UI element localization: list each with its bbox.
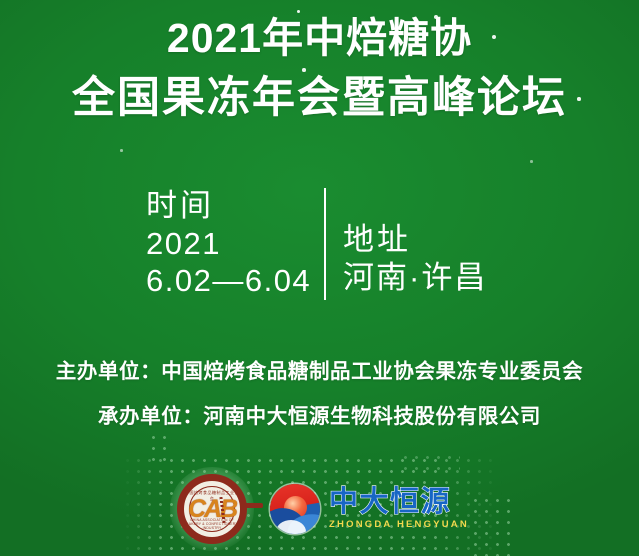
sun-over-waves-icon <box>270 484 320 534</box>
halftone-dot-pattern-small <box>148 432 172 462</box>
time-label: 时间 <box>146 188 322 225</box>
cab-arc-text-english: CHINA ASSOCIATION OF BAKERY & CONFECTION… <box>184 518 240 530</box>
time-year: 2021 <box>146 225 322 262</box>
time-block: 时间 2021 6.02—6.04 <box>146 186 322 299</box>
time-dates: 6.02—6.04 <box>146 262 322 299</box>
brand-wordmark: 中大恒源 ZHONGDA HENGYUAN <box>329 488 469 530</box>
info-divider <box>324 188 326 300</box>
zhongda-hengyuan-logo: 中大恒源 ZHONGDA HENGYUAN <box>270 484 469 534</box>
host-organization-line: 主办单位：中国焙烤食品糖制品工业协会果冻专业委员会 <box>0 362 639 383</box>
cab-seal-logo: 中国焙烤食品糖制品工业协会 CAB CHINA ASSOCIATION OF B… <box>170 467 254 551</box>
logo-row: 中国焙烤食品糖制品工业协会 CAB CHINA ASSOCIATION OF B… <box>0 466 639 552</box>
brand-name-pinyin: ZHONGDA HENGYUAN <box>329 520 469 530</box>
brand-name-chinese: 中大恒源 <box>329 488 469 517</box>
organizer-block: 主办单位：中国焙烤食品糖制品工业协会果冻专业委员会 承办单位：河南中大恒源生物科… <box>0 362 639 427</box>
cab-seal-ring: 中国焙烤食品糖制品工业协会 CAB CHINA ASSOCIATION OF B… <box>177 474 247 544</box>
address-value: 河南·许昌 <box>343 259 523 296</box>
sparkle-dot <box>530 160 533 163</box>
headline-line-1: 2021年中焙糖协 <box>0 18 639 59</box>
event-info-band: 时间 2021 6.02—6.04 地址 河南·许昌 <box>146 186 526 304</box>
event-poster: 2021年中焙糖协 全国果冻年会暨高峰论坛 时间 2021 6.02—6.04 … <box>0 0 639 556</box>
cab-side-bar-icon <box>243 503 263 508</box>
address-block: 地址 河南·许昌 <box>322 186 523 296</box>
sparkle-dot <box>297 10 300 13</box>
poster-headline: 2021年中焙糖协 全国果冻年会暨高峰论坛 <box>0 18 639 120</box>
sparkle-dot <box>120 149 123 152</box>
headline-line-2: 全国果冻年会暨高峰论坛 <box>0 77 639 120</box>
co-organizer-line: 承办单位：河南中大恒源生物科技股份有限公司 <box>0 407 639 428</box>
address-label: 地址 <box>343 222 523 259</box>
